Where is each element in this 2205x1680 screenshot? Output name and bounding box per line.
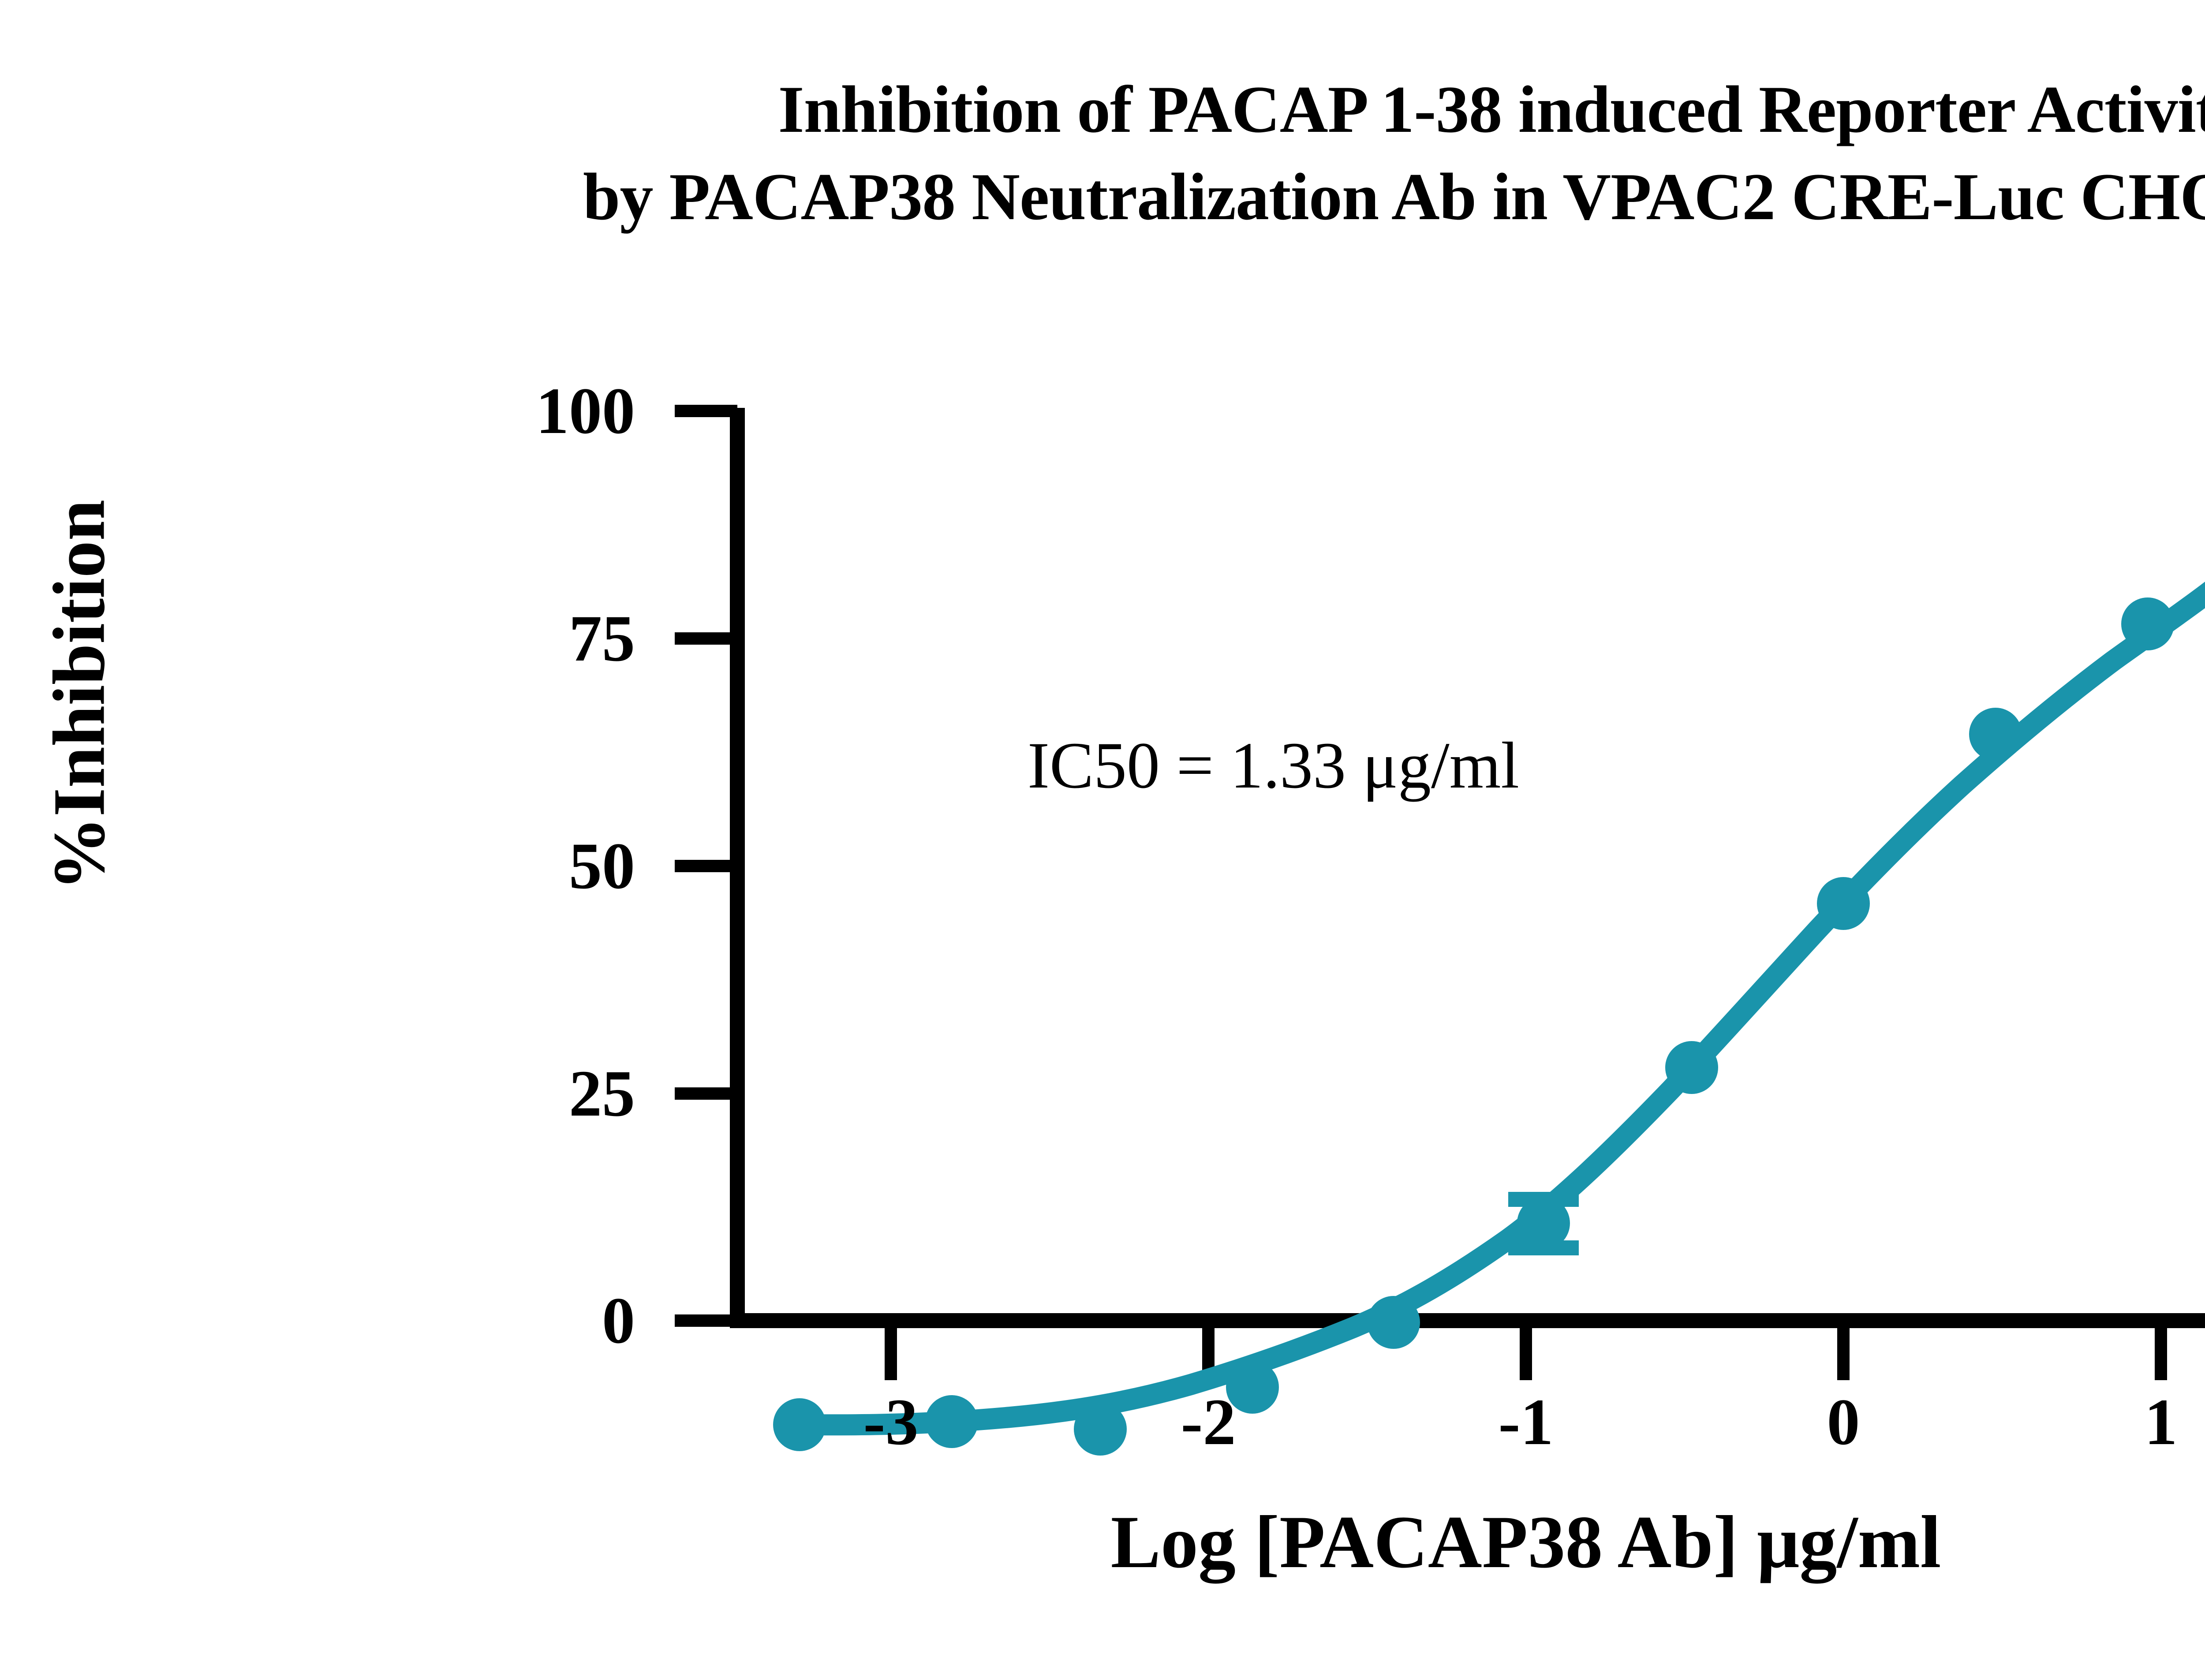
x-axis-title: Log [PACAP38 Ab] μg/ml	[732, 1499, 2205, 1585]
x-axis-ticks	[891, 1321, 2161, 1380]
data-point	[1367, 1296, 1420, 1349]
y-axis-ticks	[675, 411, 737, 1321]
y-tick-label-50: 50	[388, 833, 635, 899]
x-tick-label-1: 1	[2073, 1389, 2205, 1455]
y-axis-title: %Inhibition	[37, 387, 122, 1004]
data-point	[1665, 1041, 1718, 1094]
y-tick-label-75: 75	[388, 605, 635, 672]
data-point	[2121, 597, 2174, 650]
data-point	[1969, 708, 2022, 761]
fit-curve	[800, 541, 2205, 1425]
x-tick-label-minus-2: -2	[1120, 1389, 1297, 1455]
x-tick-label-0: 0	[1755, 1389, 1932, 1455]
ic50-annotation: IC50 = 1.33 μg/ml	[1028, 728, 1519, 803]
y-tick-label-0: 0	[388, 1288, 635, 1354]
data-point	[1074, 1403, 1127, 1456]
figure-canvas: Inhibition of PACAP 1-38 induced Reporte…	[0, 0, 2205, 1680]
x-tick-label-minus-1: -1	[1438, 1389, 1614, 1455]
x-tick-label-minus-3: -3	[803, 1389, 979, 1455]
axis-spines	[730, 408, 2205, 1323]
data-point	[1817, 877, 1870, 930]
plot-area: 100 75 50 25 0 -3 -2 -1 0 1 %Inhibition …	[0, 0, 2205, 1680]
y-tick-label-25: 25	[388, 1060, 635, 1127]
y-tick-label-100: 100	[388, 378, 635, 444]
data-point	[1517, 1197, 1570, 1250]
